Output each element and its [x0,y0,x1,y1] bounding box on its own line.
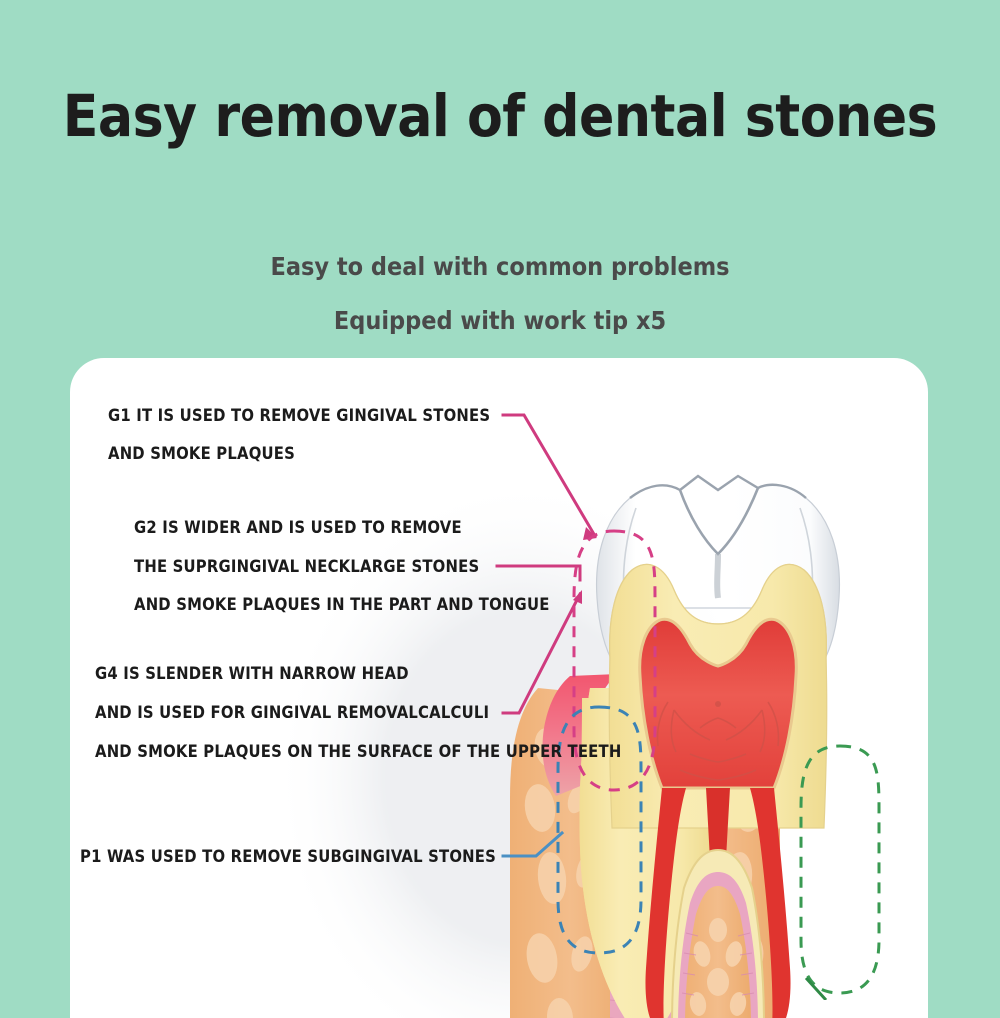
annotation-g4-line1: G4 IS SLENDER WITH NARROW HEAD [95,664,409,683]
page-title: Easy removal of dental stones [0,82,1000,150]
annotation-g1-line1: G1 IT IS USED TO REMOVE GINGIVAL STONES [108,406,490,425]
annotation-g1-line2: AND SMOKE PLAQUES [108,444,295,463]
subtitle-primary: Easy to deal with common problems [0,252,1000,281]
annotation-g2-line2: THE SUPRGINGIVAL NECKLARGE STONES [134,557,479,576]
subtitle-secondary: Equipped with work tip x5 [0,306,1000,335]
annotation-g2-line1: G2 IS WIDER AND IS USED TO REMOVE [134,518,462,537]
annotation-g4-line3: AND SMOKE PLAQUES ON THE SURFACE OF THE … [95,742,621,761]
annotation-p1-line1: P1 WAS USED TO REMOVE SUBGINGIVAL STONES [80,847,496,866]
annotation-g4-line2: AND IS USED FOR GINGIVAL REMOVALCALCULI [95,703,489,722]
annotation-g2-line3: AND SMOKE PLAQUES IN THE PART AND TONGUE [134,595,550,614]
page-root: Easy removal of dental stones Easy to de… [0,0,1000,1000]
